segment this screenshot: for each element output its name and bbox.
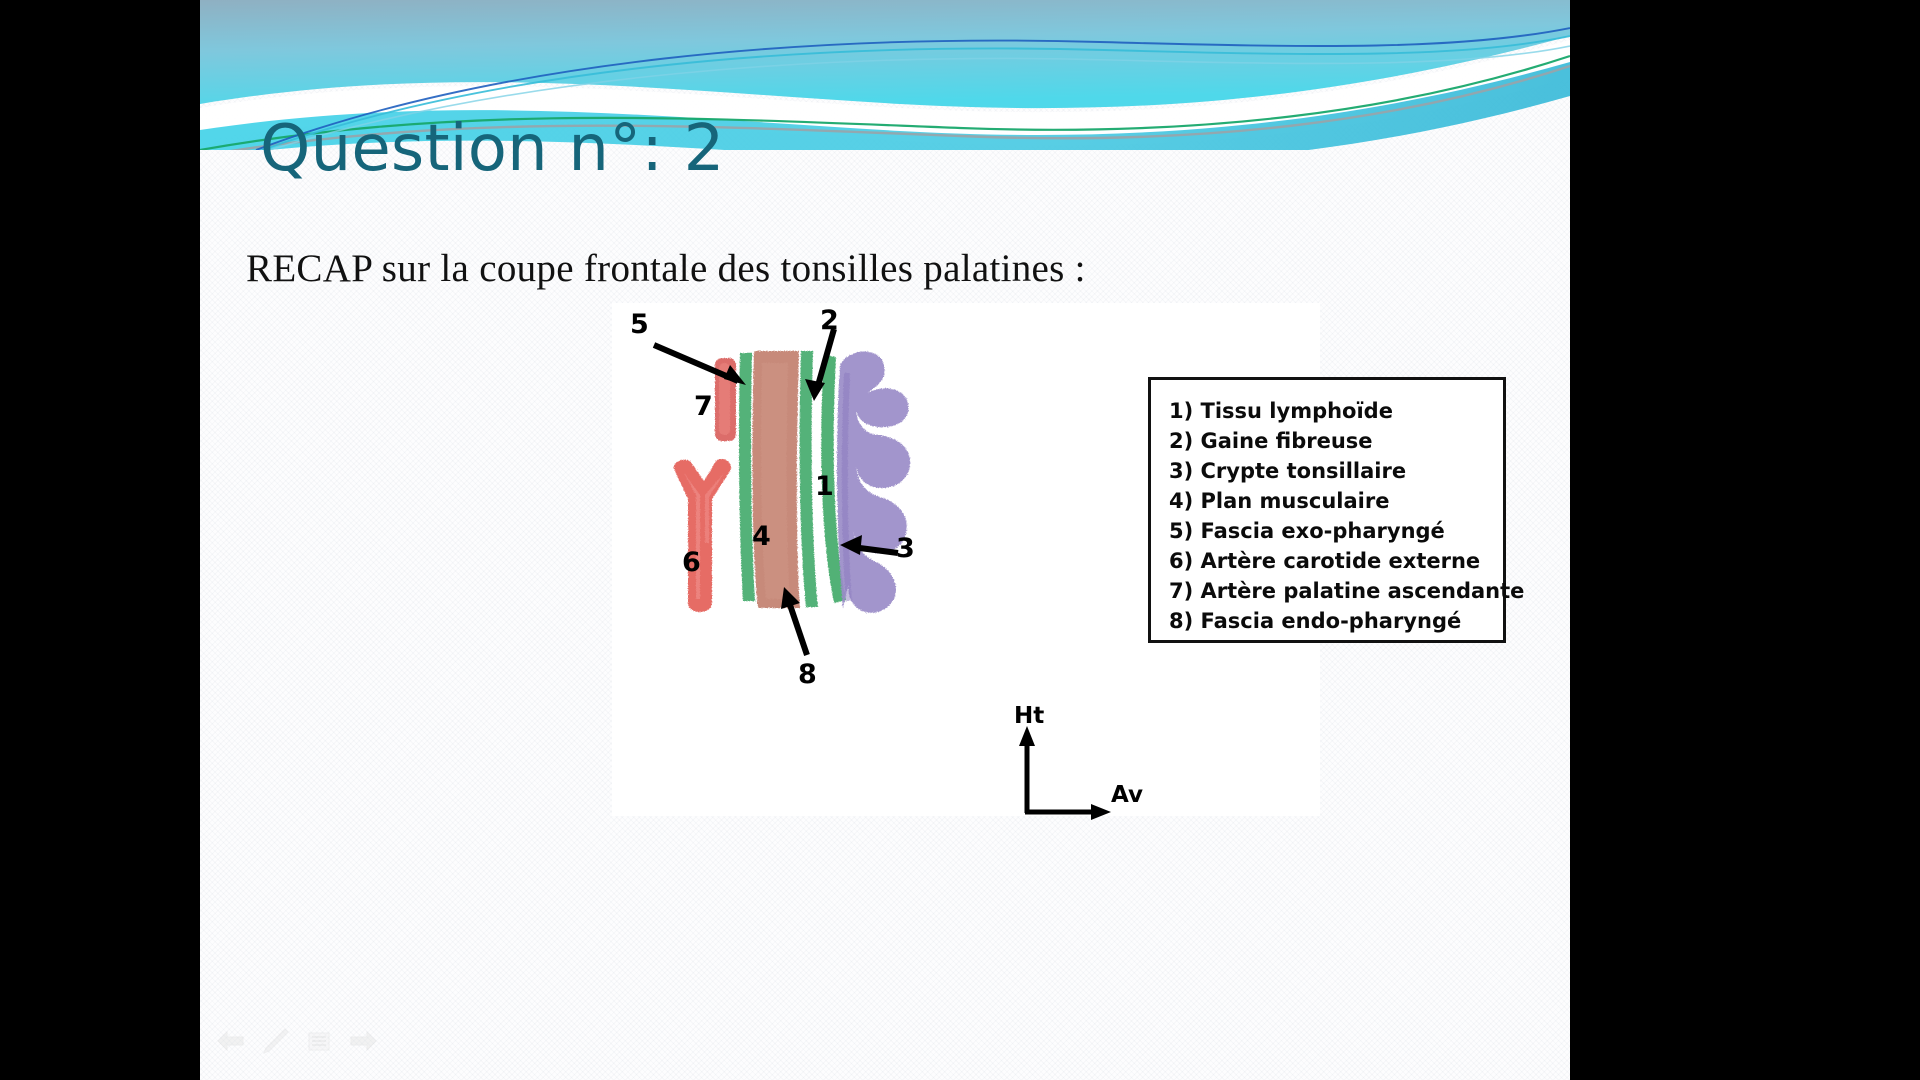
figure-panel: 5 2 7 1 4 3 6 8 Ht Av 1) Tissu lymp xyxy=(612,303,1320,816)
legend-item: 4) Plan musculaire xyxy=(1169,486,1503,516)
slide: Question n°: 2 RECAP sur la coupe fronta… xyxy=(200,0,1570,1080)
legend-item: 3) Crypte tonsillaire xyxy=(1169,456,1503,486)
plan-musculaire-shape xyxy=(752,351,800,608)
callout-number-2: 2 xyxy=(820,305,839,336)
legend-item: 2) Gaine fibreuse xyxy=(1169,426,1503,456)
screen: Question n°: 2 RECAP sur la coupe fronta… xyxy=(0,0,1920,1080)
callout-number-3: 3 xyxy=(896,533,915,564)
callout-number-7: 7 xyxy=(694,391,713,422)
callout-number-1: 1 xyxy=(815,471,834,502)
menu-icon[interactable] xyxy=(304,1026,334,1056)
legend-item: 6) Artère carotide externe xyxy=(1169,546,1503,576)
page-title: Question n°: 2 xyxy=(260,112,725,186)
next-slide-icon[interactable] xyxy=(348,1026,378,1056)
callout-number-6: 6 xyxy=(682,547,701,578)
orientation-label-ht: Ht xyxy=(1014,703,1044,729)
previous-slide-icon[interactable] xyxy=(216,1026,246,1056)
orientation-indicator: Ht Av xyxy=(907,708,1137,823)
legend-item: 7) Artère palatine ascendante xyxy=(1169,576,1503,606)
callout-arrow-8 xyxy=(781,587,807,655)
callout-number-8: 8 xyxy=(798,659,817,690)
pen-icon[interactable] xyxy=(260,1026,290,1056)
legend-item: 5) Fascia exo-pharyngé xyxy=(1169,516,1503,546)
artery-carotide-externe-shape xyxy=(674,459,731,612)
callout-number-5: 5 xyxy=(630,309,649,340)
legend-box: 1) Tissu lymphoïde 2) Gaine fibreuse 3) … xyxy=(1148,377,1506,643)
orientation-label-av: Av xyxy=(1111,782,1143,808)
callout-number-4: 4 xyxy=(752,521,771,552)
legend-item: 8) Fascia endo-pharyngé xyxy=(1169,606,1503,636)
tissu-lymphoide-shape xyxy=(837,352,910,613)
slide-subtitle: RECAP sur la coupe frontale des tonsille… xyxy=(246,246,1086,291)
presentation-navbar[interactable] xyxy=(208,1026,378,1066)
legend-item: 1) Tissu lymphoïde xyxy=(1169,396,1503,426)
